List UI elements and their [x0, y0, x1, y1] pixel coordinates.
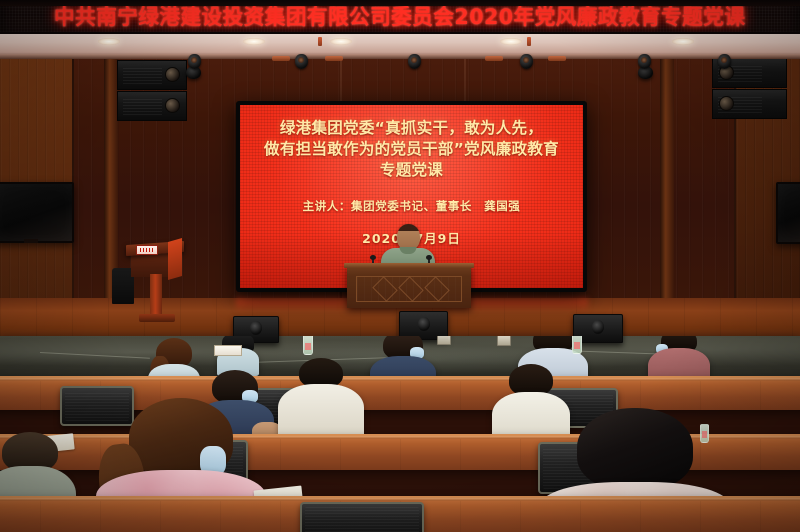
monitor-driver-icon: [418, 317, 430, 331]
lectern-emblem-plaque: [136, 245, 158, 255]
sprinkler-icon: [527, 37, 531, 46]
speaker-driver-icon: [165, 98, 180, 113]
speaker-box: [117, 91, 187, 121]
desk-edge: [0, 498, 800, 501]
lectern-stem: [150, 274, 162, 318]
downlight-icon: [672, 38, 694, 45]
desk-diamond-motif: [398, 276, 423, 301]
presenter-desk-top: [344, 263, 474, 268]
ceiling-vent: [325, 56, 343, 61]
plaque-emblem-icon: [140, 248, 155, 252]
lectern-accent-panel: [168, 238, 182, 280]
ceiling-vent: [272, 56, 290, 61]
speaker-box: [117, 60, 187, 90]
spotlight-icon: [295, 54, 308, 69]
conference-hall-photo: 中共南宁绿港建设投资集团有限公司委员会2020年党风廉政教育专题党课: [0, 0, 800, 532]
ceiling-edge: [0, 0, 800, 6]
screen-title-line-1: 绿港集团党委“真抓实干，敢为人先，: [280, 118, 543, 139]
name-card: [214, 345, 242, 356]
ceiling-vent: [485, 56, 503, 61]
monitor-driver-icon: [250, 321, 262, 335]
desk-front-panel: [356, 276, 462, 302]
attendee-mid-right-man: [278, 358, 364, 440]
ceiling-soffit-lip: [0, 54, 800, 59]
ceiling-vent: [548, 56, 566, 61]
line-array-speaker-left: [117, 51, 185, 121]
audience-area: [0, 336, 800, 532]
wall-tv-left-foot: [24, 239, 38, 243]
downlight-icon: [330, 38, 352, 45]
wall-column-left: [104, 58, 118, 303]
spotlight-icon: [638, 54, 651, 69]
speaker-grille: [123, 66, 162, 84]
presenter-desk: [347, 266, 471, 308]
water-bottle: [303, 336, 313, 355]
wall-pilaster-left: [0, 58, 74, 303]
sprinkler-icon: [318, 37, 322, 46]
spotlight-icon: [408, 54, 421, 69]
speaker-driver-icon: [165, 67, 180, 82]
water-bottle: [572, 336, 582, 354]
card-holder: [437, 336, 451, 345]
screen-title-line-3: 专题党课: [380, 160, 443, 181]
monitor-driver-icon: [592, 320, 604, 334]
downlight-icon: [98, 38, 120, 45]
screen-speaker-line: 主讲人：集团党委书记、董事长 龚国强: [303, 198, 521, 214]
speaker-box: [712, 89, 787, 119]
lectern-base: [139, 314, 175, 322]
desk-diamond-motif: [372, 276, 397, 301]
attendee-torso: [278, 384, 364, 440]
spotlight-icon: [520, 54, 533, 69]
speaker-driver-icon: [719, 96, 734, 111]
downlight-icon: [243, 38, 265, 45]
spotlight-icon: [718, 54, 731, 69]
desk-edge: [0, 378, 800, 381]
wall-column-right: [660, 58, 674, 303]
wall-tv-right: [776, 182, 800, 244]
audience-chair: [300, 502, 424, 532]
screen-title-line-2: 做有担当敢作为的党员干部”党风廉政教育: [264, 139, 559, 160]
spotlight-icon: [188, 54, 201, 69]
wall-tv-left: [0, 182, 74, 243]
speaker-grille: [123, 97, 162, 115]
attendee-hair: [577, 408, 693, 490]
card-holder: [497, 336, 511, 346]
downlight-icon: [500, 38, 522, 45]
desk-diamond-motif: [424, 276, 449, 301]
